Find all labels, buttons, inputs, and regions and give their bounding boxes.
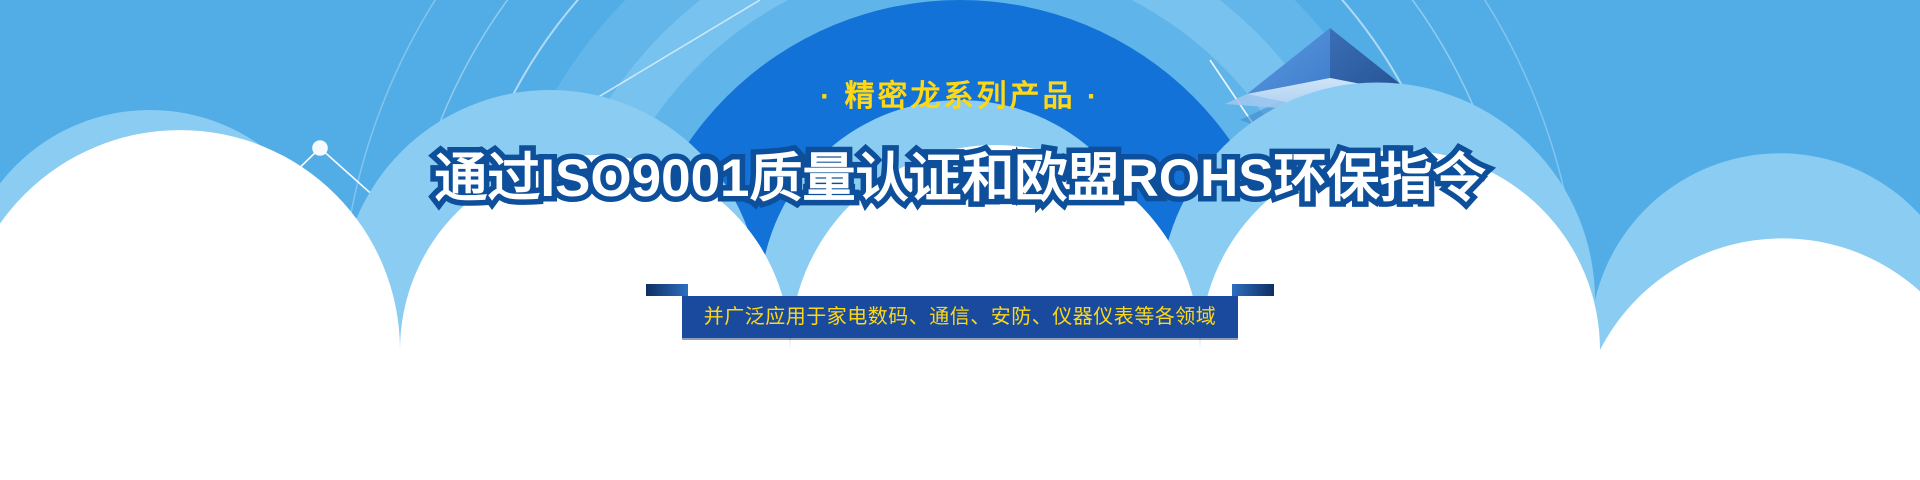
subtitle-ribbon: 并广泛应用于家电数码、通信、安防、仪器仪表等各领域 xyxy=(682,296,1238,338)
ribbon-text: 并广泛应用于家电数码、通信、安防、仪器仪表等各领域 xyxy=(704,296,1217,338)
eyebrow-text: · 精密龙系列产品 · xyxy=(0,75,1920,119)
headline-fill-layer: 通过ISO9001质量认证和欧盟ROHS环保指令 xyxy=(434,149,1485,208)
ribbon-tab-right-icon xyxy=(1232,284,1274,296)
headline: 通过ISO9001质量认证和欧盟ROHS环保指令 通过ISO9001质量认证和欧… xyxy=(434,144,1485,214)
headline-wrapper: 通过ISO9001质量认证和欧盟ROHS环保指令 通过ISO9001质量认证和欧… xyxy=(0,144,1920,214)
promo-banner: · 精密龙系列产品 · 通过ISO9001质量认证和欧盟ROHS环保指令 通过I… xyxy=(0,0,1920,480)
ribbon-tab-left-icon xyxy=(646,284,688,296)
banner-background xyxy=(0,0,1920,480)
